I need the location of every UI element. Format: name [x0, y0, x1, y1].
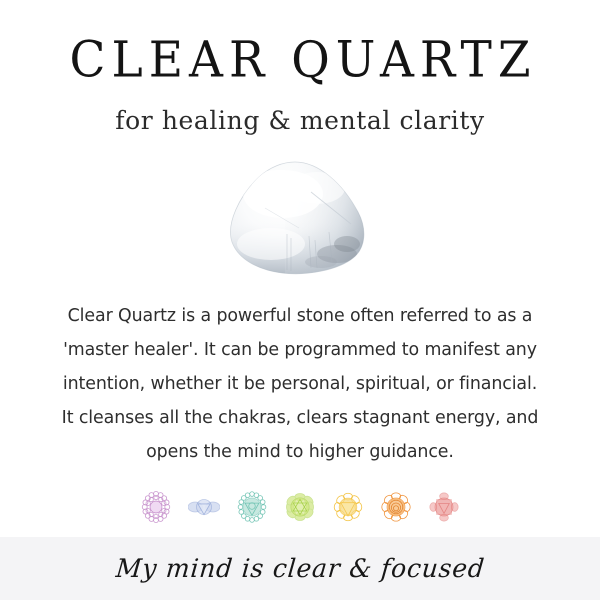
- description-text: Clear Quartz is a powerful stone often r…: [61, 299, 539, 469]
- affirmation-text: My mind is clear & focused: [114, 554, 485, 584]
- solar-plexus-chakra-icon: [332, 491, 364, 523]
- throat-chakra-icon: [236, 491, 268, 523]
- third-eye-chakra-icon: [188, 491, 220, 523]
- stone-image-container: [0, 155, 600, 281]
- crown-chakra-icon: [140, 491, 172, 523]
- page-title: CLEAR QUARTZ: [0, 34, 600, 87]
- crystal-info-card: CLEAR QUARTZ for healing & mental clarit…: [0, 0, 600, 600]
- chakra-icon-row: [0, 487, 600, 527]
- sacral-chakra-icon: [380, 491, 412, 523]
- root-chakra-icon: [428, 491, 460, 523]
- card-header: CLEAR QUARTZ for healing & mental clarit…: [0, 0, 600, 135]
- page-subtitle: for healing & mental clarity: [0, 106, 600, 135]
- heart-chakra-icon: [284, 491, 316, 523]
- affirmation-footer: My mind is clear & focused: [0, 537, 600, 600]
- clear-quartz-stone-icon: [225, 158, 375, 278]
